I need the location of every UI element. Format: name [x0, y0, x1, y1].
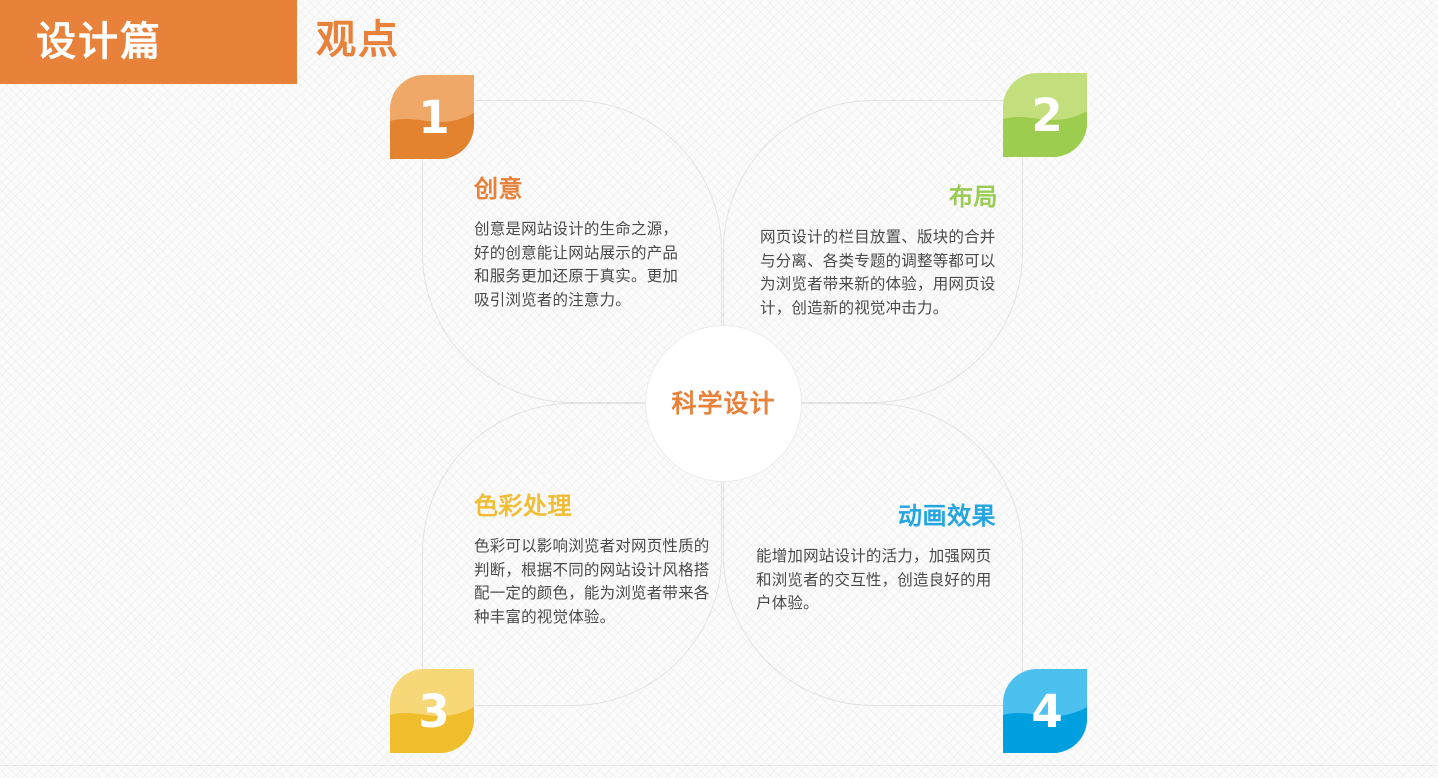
quadrant-block-1: 创意 创意是网站设计的生命之源，好的创意能让网站展示的产品和服务更加还原于真实。… [474, 176, 686, 313]
leaf-badge-number-1: 1 [390, 75, 474, 159]
quadrant-block-4: 动画效果 能增加网站设计的活力，加强网页和浏览者的交互性，创造良好的用户体验。 [756, 503, 996, 616]
four-quadrant-diagram: 科学设计 1 2 3 [0, 0, 1438, 778]
leaf-badge-1[interactable]: 1 [390, 75, 474, 159]
leaf-badge-3[interactable]: 3 [390, 669, 474, 753]
quadrant-title-1: 创意 [474, 176, 686, 202]
quadrant-title-3: 色彩处理 [474, 493, 712, 519]
quadrant-body-4: 能增加网站设计的活力，加强网页和浏览者的交互性，创造良好的用户体验。 [756, 545, 996, 616]
quadrant-title-4: 动画效果 [756, 503, 996, 529]
quadrant-body-1: 创意是网站设计的生命之源，好的创意能让网站展示的产品和服务更加还原于真实。更加吸… [474, 218, 686, 312]
leaf-badge-number-2: 2 [1003, 73, 1087, 157]
center-hub: 科学设计 [645, 325, 802, 482]
quadrant-body-2: 网页设计的栏目放置、版块的合并与分离、各类专题的调整等都可以为浏览者带来新的体验… [760, 226, 998, 320]
slide-canvas: 设计篇 观点 科学设计 1 2 [0, 0, 1438, 778]
leaf-badge-4[interactable]: 4 [1003, 669, 1087, 753]
center-hub-label: 科学设计 [671, 391, 775, 416]
quadrant-block-3: 色彩处理 色彩可以影响浏览者对网页性质的判断，根据不同的网站设计风格搭配一定的颜… [474, 493, 712, 630]
quadrant-title-2: 布局 [760, 184, 998, 210]
leaf-badge-2[interactable]: 2 [1003, 73, 1087, 157]
leaf-badge-number-4: 4 [1003, 669, 1087, 753]
leaf-badge-number-3: 3 [390, 669, 474, 753]
quadrant-body-3: 色彩可以影响浏览者对网页性质的判断，根据不同的网站设计风格搭配一定的颜色，能为浏… [474, 535, 712, 629]
quadrant-block-2: 布局 网页设计的栏目放置、版块的合并与分离、各类专题的调整等都可以为浏览者带来新… [760, 184, 998, 321]
